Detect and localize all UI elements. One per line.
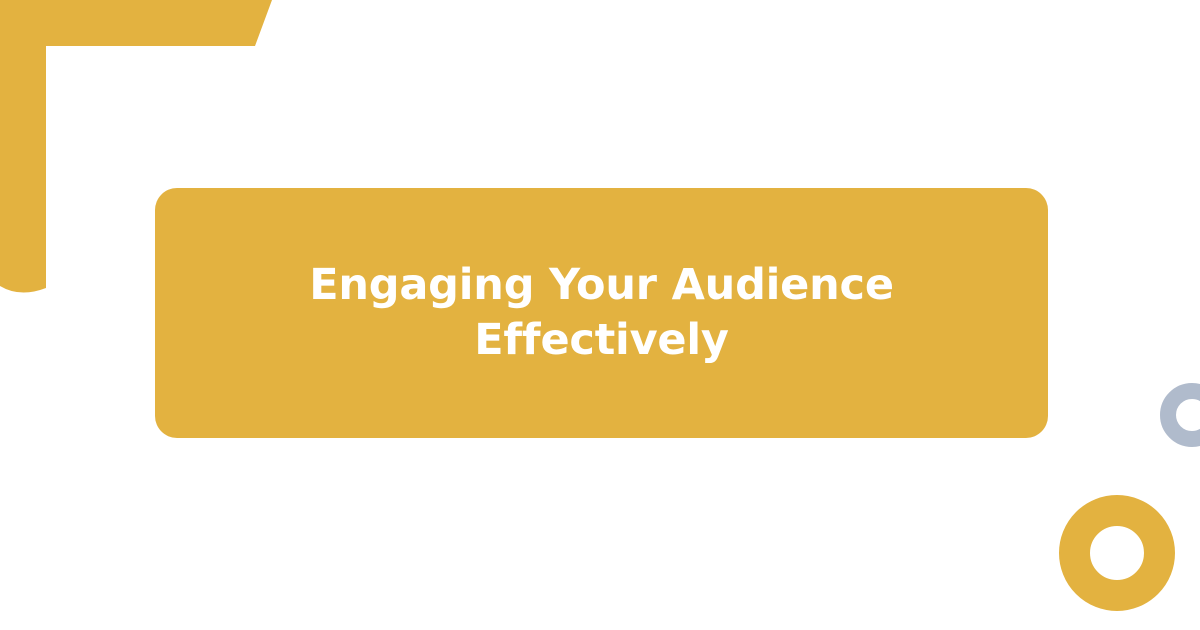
poster-canvas: Engaging Your Audience Effectively	[0, 0, 1200, 630]
gray-ring-icon	[1160, 383, 1200, 447]
page-title: Engaging Your Audience Effectively	[282, 258, 922, 368]
yellow-ring-icon	[1059, 495, 1175, 611]
title-card: Engaging Your Audience Effectively	[155, 188, 1048, 438]
